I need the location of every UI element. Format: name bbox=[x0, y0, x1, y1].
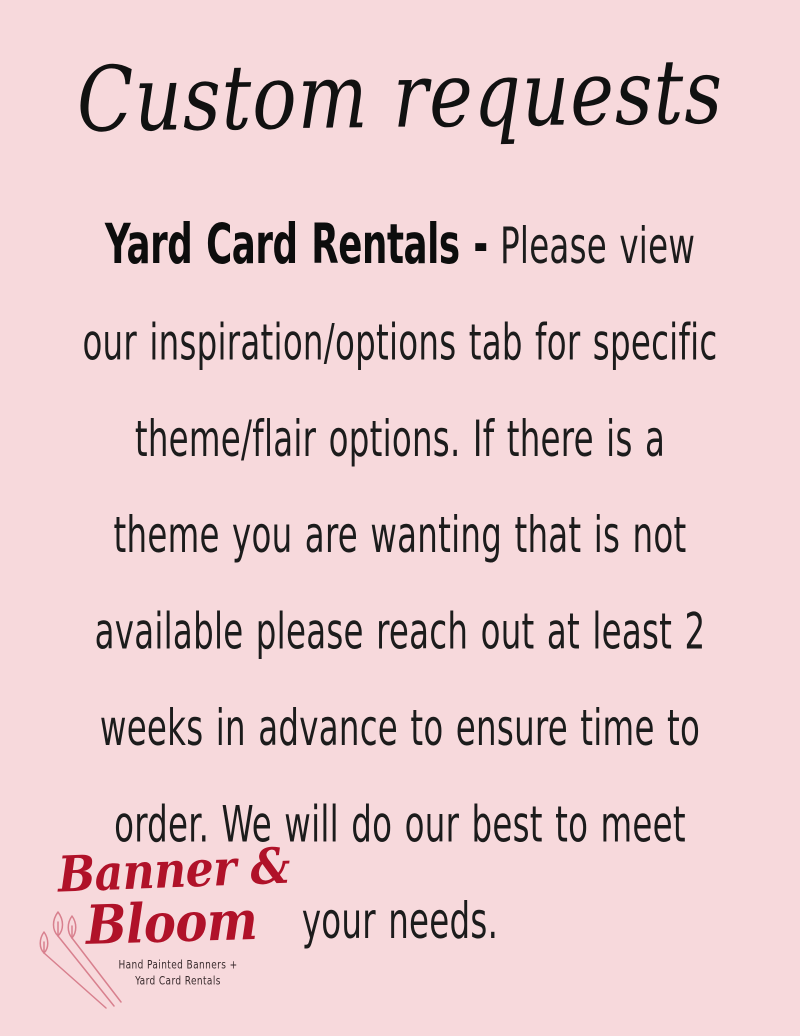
title-container: Custom requests bbox=[0, 58, 800, 178]
poster-canvas: Custom requests Yard Card Rentals - Plea… bbox=[0, 0, 800, 1036]
body-lead-label: Yard Card Rentals - bbox=[105, 212, 488, 277]
logo-tagline-line-1: Hand Painted Banners + bbox=[88, 958, 268, 974]
body-container: Yard Card Rentals - Please view our insp… bbox=[36, 196, 764, 830]
logo-tagline-line-2: Yard Card Rentals bbox=[88, 974, 268, 990]
logo-word-bloom: Bloom bbox=[85, 894, 257, 953]
body-paragraph-text: Please view our inspiration/options tab … bbox=[82, 217, 717, 950]
page-title: Custom requests bbox=[77, 47, 724, 145]
brand-logo: Banner & Bloom Hand Painted Banners + Ya… bbox=[26, 848, 276, 1018]
logo-tagline: Hand Painted Banners + Yard Card Rentals bbox=[88, 958, 268, 990]
